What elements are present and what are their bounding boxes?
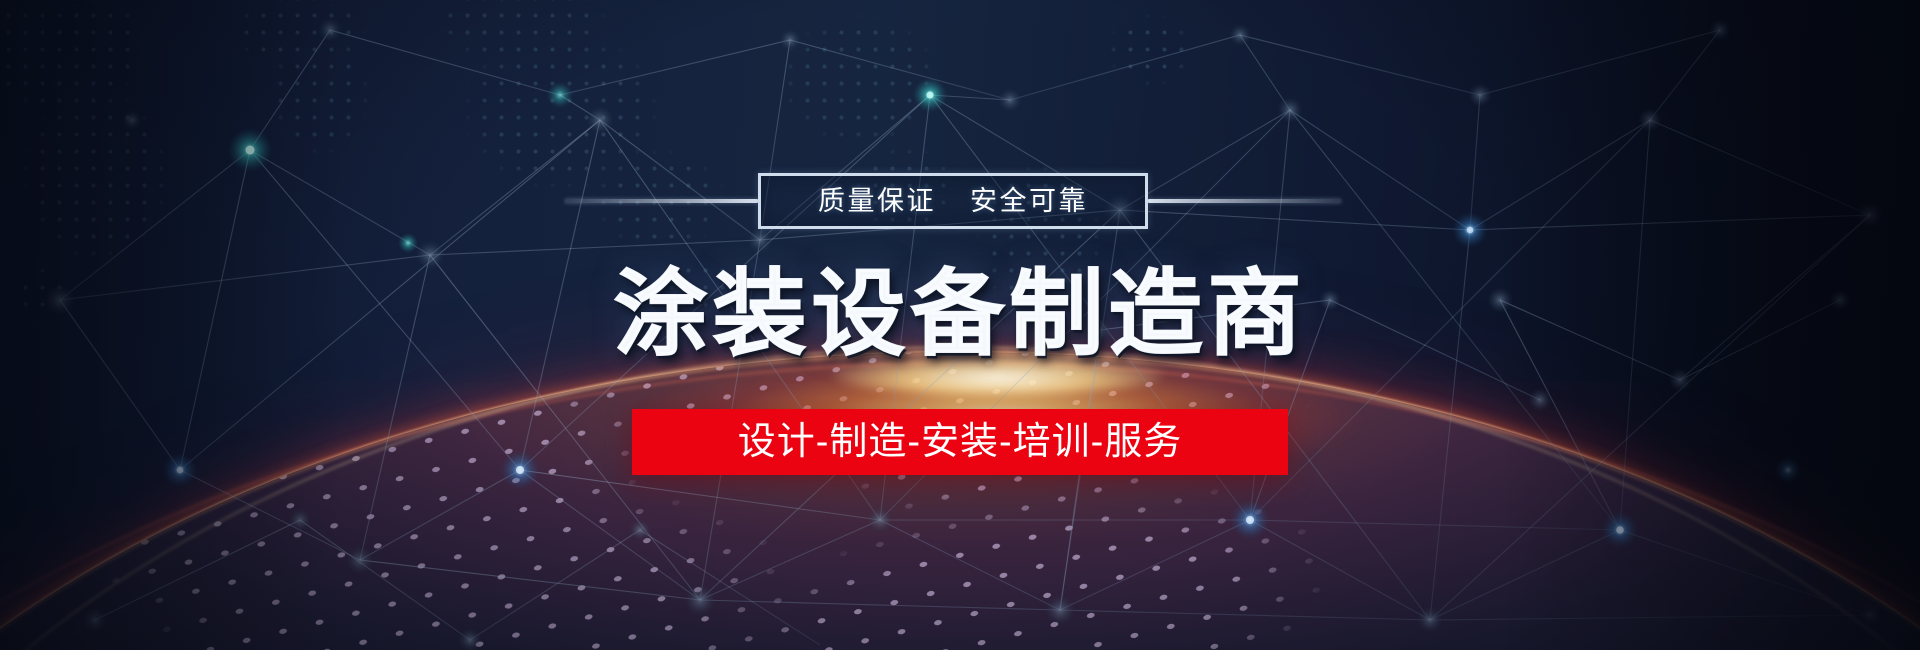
page-title: 涂装设备制造商 bbox=[613, 263, 1306, 365]
slogan-item-safety: 安全可靠 bbox=[970, 188, 1088, 215]
hero-banner: 质量保证 安全可靠 涂装设备制造商 设计-制造-安装-培训-服务 bbox=[0, 0, 1920, 650]
slogan-rule-right bbox=[1148, 199, 1341, 203]
slogan-strip: 质量保证 安全可靠 bbox=[565, 173, 1355, 229]
slogan-box: 质量保证 安全可靠 bbox=[758, 173, 1148, 229]
services-ribbon-text: 设计-制造-安装-培训-服务 bbox=[738, 423, 1183, 461]
slogan-item-quality: 质量保证 bbox=[818, 188, 936, 215]
page-title-text: 涂装设备制造商 bbox=[613, 261, 1306, 366]
services-ribbon: 设计-制造-安装-培训-服务 bbox=[632, 409, 1288, 475]
slogan-rule-left bbox=[565, 199, 758, 203]
banner-content: 质量保证 安全可靠 涂装设备制造商 设计-制造-安装-培训-服务 bbox=[0, 0, 1920, 650]
